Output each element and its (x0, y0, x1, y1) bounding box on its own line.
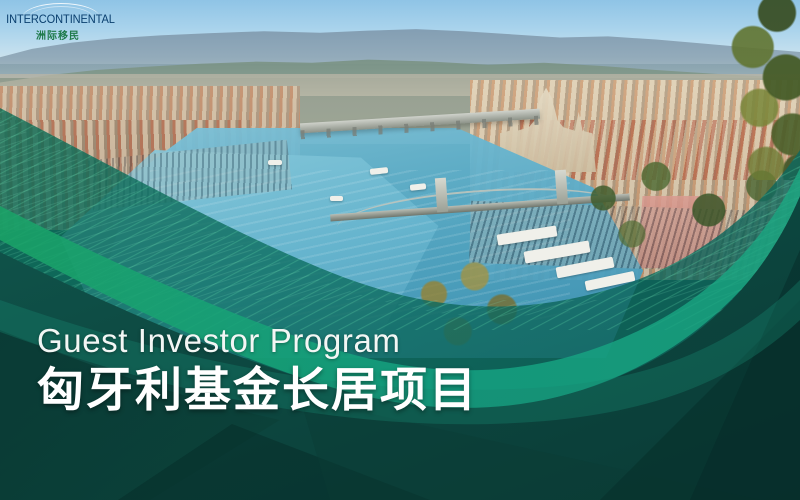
logo-chinese-text: 洲际移民 (4, 27, 112, 42)
title-block: Guest Investor Program 匈牙利基金长居项目 (37, 322, 478, 417)
green-wave-overlay (0, 0, 800, 500)
logo-english-text: INTERCONTINENTAL (6, 14, 110, 26)
promo-banner: INTERCONTINENTAL 洲际移民 Guest Investor Pro… (0, 0, 800, 500)
title-english: Guest Investor Program (37, 322, 478, 360)
title-chinese: 匈牙利基金长居项目 (37, 364, 478, 417)
logo[interactable]: INTERCONTINENTAL 洲际移民 (4, 3, 112, 39)
